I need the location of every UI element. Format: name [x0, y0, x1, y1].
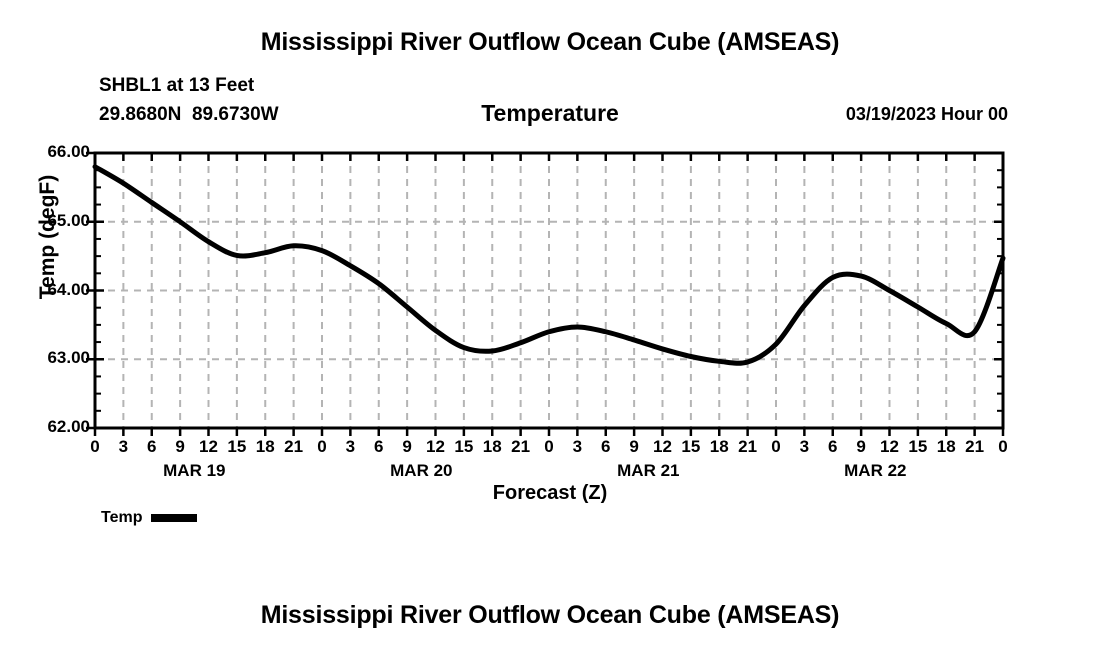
x-tick-label: 15 — [222, 437, 252, 457]
x-tick-label: 0 — [534, 437, 564, 457]
x-axis-label: Forecast (Z) — [0, 482, 1100, 505]
x-tick-label: 0 — [307, 437, 337, 457]
x-tick-label: 9 — [619, 437, 649, 457]
y-tick-label: 64.00 — [0, 280, 90, 300]
x-tick-label: 18 — [931, 437, 961, 457]
x-tick-label: 21 — [279, 437, 309, 457]
y-tick-label: 66.00 — [0, 142, 90, 162]
x-tick-label: 18 — [704, 437, 734, 457]
x-tick-label: 9 — [392, 437, 422, 457]
x-axis-day-label: MAR 22 — [805, 461, 945, 481]
x-tick-label: 3 — [335, 437, 365, 457]
x-tick-label: 15 — [676, 437, 706, 457]
x-tick-label: 3 — [562, 437, 592, 457]
x-tick-label: 21 — [506, 437, 536, 457]
x-tick-label: 12 — [194, 437, 224, 457]
x-axis-day-label: MAR 20 — [351, 461, 491, 481]
x-tick-label: 12 — [875, 437, 905, 457]
x-tick-label: 6 — [137, 437, 167, 457]
x-tick-label: 3 — [789, 437, 819, 457]
gridlines — [95, 153, 1003, 428]
x-tick-label: 9 — [165, 437, 195, 457]
legend-label-temp: Temp — [101, 509, 142, 527]
x-tick-label: 15 — [903, 437, 933, 457]
x-axis-day-label: MAR 21 — [578, 461, 718, 481]
footer-title: Mississippi River Outflow Ocean Cube (AM… — [0, 601, 1100, 630]
plot-area — [0, 0, 1100, 650]
legend: Temp — [101, 509, 197, 527]
x-tick-label: 6 — [818, 437, 848, 457]
axis-ticks — [86, 153, 1003, 436]
x-tick-label: 0 — [988, 437, 1018, 457]
x-tick-label: 12 — [421, 437, 451, 457]
x-tick-label: 0 — [80, 437, 110, 457]
x-tick-label: 0 — [761, 437, 791, 457]
x-tick-label: 18 — [477, 437, 507, 457]
x-tick-label: 3 — [108, 437, 138, 457]
x-tick-label: 21 — [960, 437, 990, 457]
x-tick-label: 6 — [591, 437, 621, 457]
y-tick-label: 63.00 — [0, 348, 90, 368]
x-tick-label: 21 — [733, 437, 763, 457]
y-tick-label: 65.00 — [0, 211, 90, 231]
x-axis-day-label: MAR 19 — [124, 461, 264, 481]
x-tick-label: 9 — [846, 437, 876, 457]
chart-page: Mississippi River Outflow Ocean Cube (AM… — [0, 0, 1100, 650]
x-tick-label: 12 — [648, 437, 678, 457]
x-tick-label: 6 — [364, 437, 394, 457]
y-tick-label: 62.00 — [0, 417, 90, 437]
legend-swatch-temp — [151, 514, 197, 522]
y-axis-tick-labels: 66.0065.0064.0063.0062.00 — [0, 0, 90, 650]
x-tick-label: 18 — [250, 437, 280, 457]
x-tick-label: 15 — [449, 437, 479, 457]
